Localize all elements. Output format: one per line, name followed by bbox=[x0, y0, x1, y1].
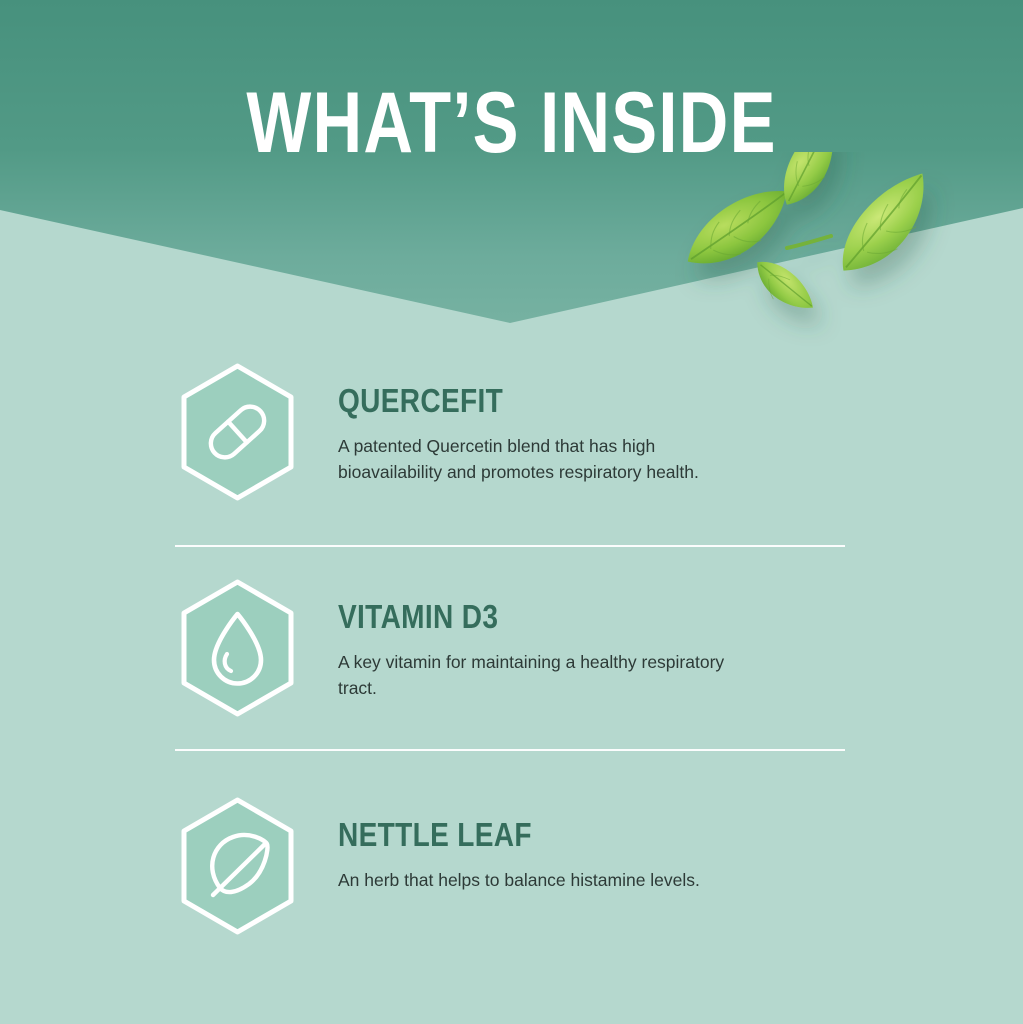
water-droplet-icon bbox=[175, 578, 300, 718]
ingredient-title: NETTLE LEAF bbox=[338, 818, 646, 852]
ingredient-row-vitamin-d3: VITAMIN D3 A key vitamin for maintaining… bbox=[175, 578, 875, 718]
ingredient-description: A key vitamin for maintaining a healthy … bbox=[338, 649, 758, 701]
ingredient-title: QUERCEFIT bbox=[338, 384, 695, 418]
ingredient-row-nettle-leaf: NETTLE LEAF An herb that helps to balanc… bbox=[175, 796, 875, 936]
ingredient-description: An herb that helps to balance histamine … bbox=[338, 867, 700, 893]
ingredient-description: A patented Quercetin blend that has high… bbox=[338, 433, 758, 485]
ingredient-text-nettle-leaf: NETTLE LEAF An herb that helps to balanc… bbox=[338, 796, 700, 893]
capsule-icon bbox=[175, 362, 300, 502]
ingredient-list: QUERCEFIT A patented Quercetin blend tha… bbox=[0, 0, 1023, 1024]
leaf-icon bbox=[175, 796, 300, 936]
ingredient-title: VITAMIN D3 bbox=[338, 600, 695, 634]
ingredient-text-quercefit: QUERCEFIT A patented Quercetin blend tha… bbox=[338, 362, 758, 485]
infographic-page: WHAT’S INSIDE bbox=[0, 0, 1023, 1024]
ingredient-text-vitamin-d3: VITAMIN D3 A key vitamin for maintaining… bbox=[338, 578, 758, 701]
ingredient-row-quercefit: QUERCEFIT A patented Quercetin blend tha… bbox=[175, 362, 875, 502]
